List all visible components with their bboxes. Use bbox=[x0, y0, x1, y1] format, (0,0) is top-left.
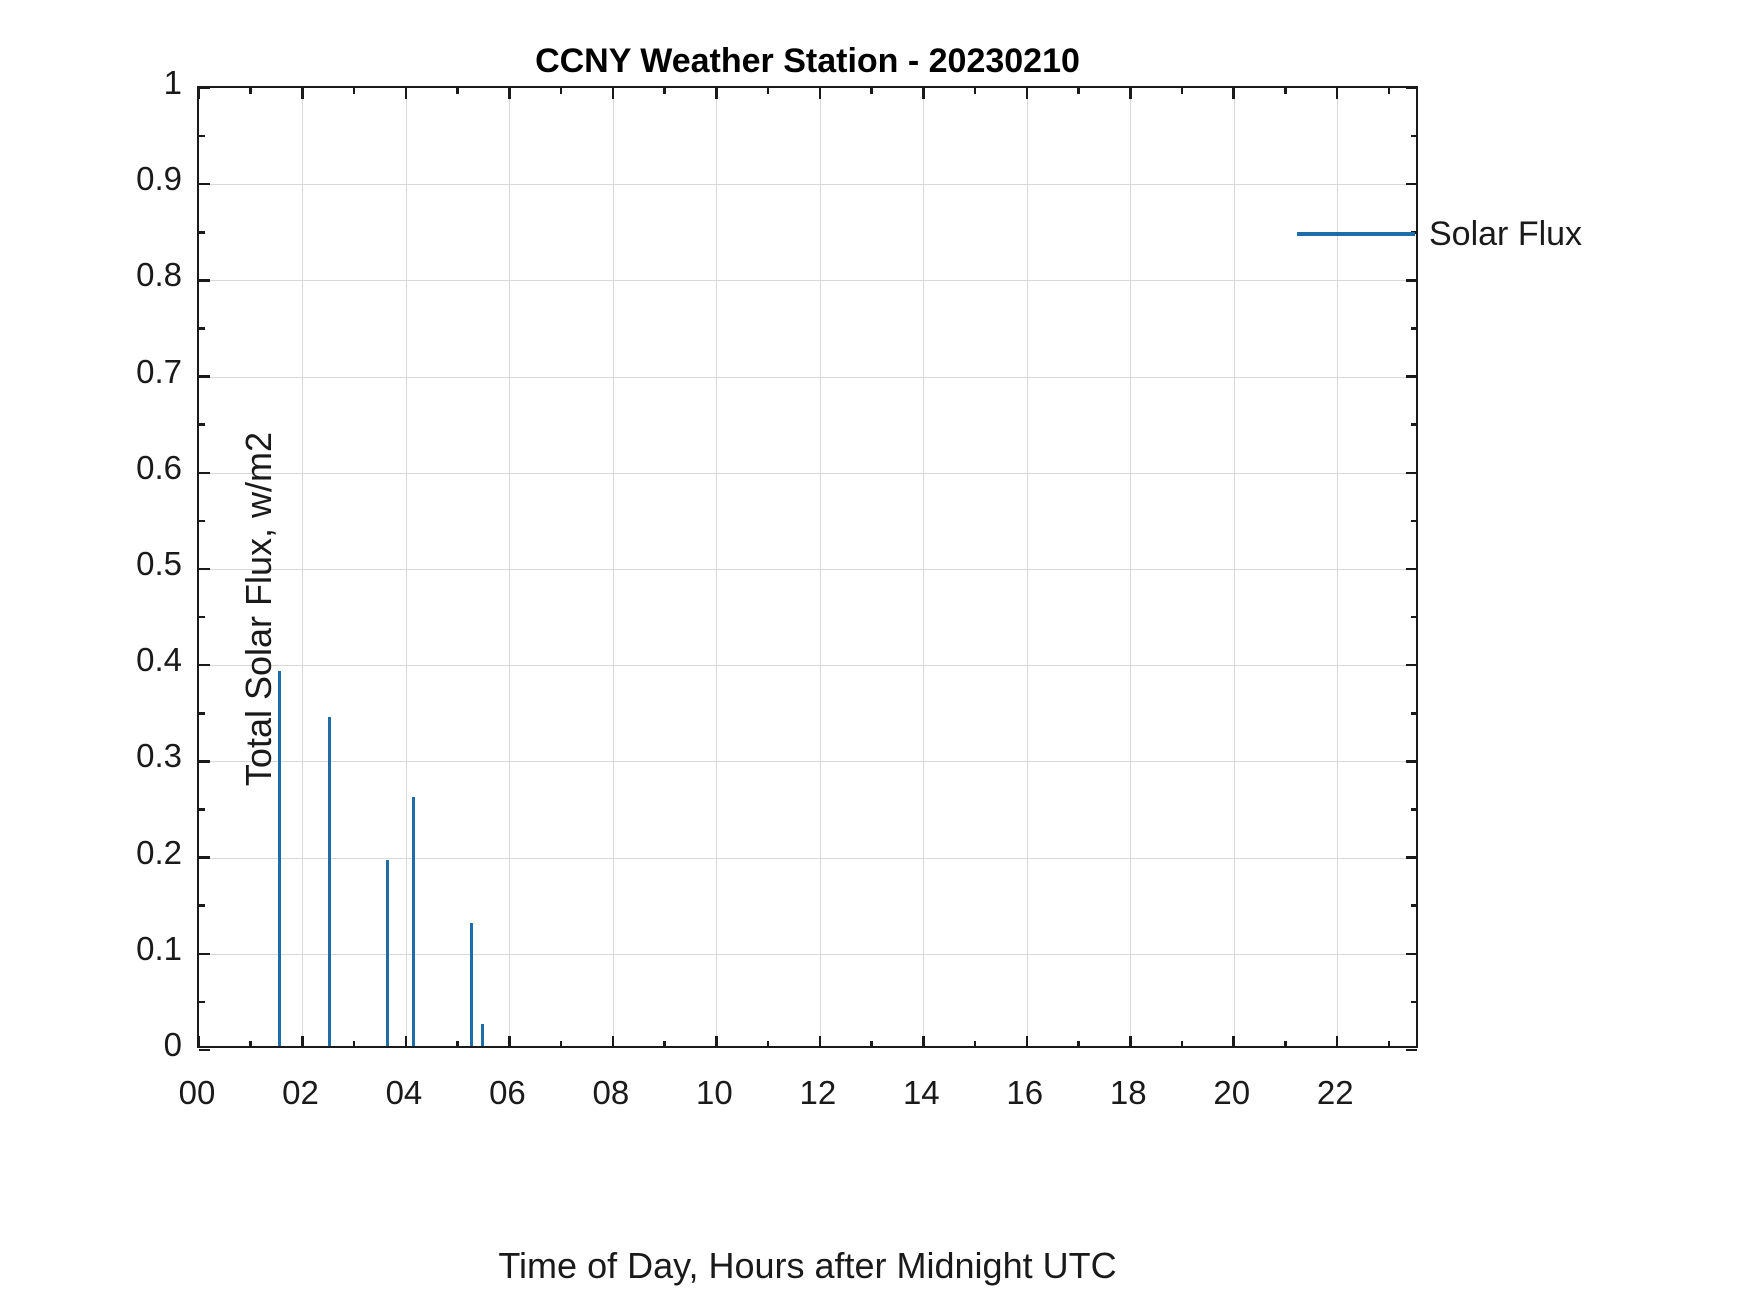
x-tick-mark-minor bbox=[870, 88, 873, 94]
x-tick-mark bbox=[1232, 88, 1235, 99]
x-tick-mark bbox=[612, 1036, 615, 1047]
y-tick-label: 0.1 bbox=[0, 930, 182, 968]
y-tick-mark-minor bbox=[199, 327, 205, 330]
y-tick-label: 0.2 bbox=[0, 834, 182, 872]
y-tick-mark-minor bbox=[199, 423, 205, 426]
y-tick-mark bbox=[199, 856, 210, 859]
x-tick-mark-minor bbox=[1181, 88, 1184, 94]
y-tick-mark-minor bbox=[199, 520, 205, 523]
x-axis-title: Time of Day, Hours after Midnight UTC bbox=[197, 1245, 1418, 1287]
y-tick-mark-minor bbox=[1411, 423, 1417, 426]
y-tick-mark-minor bbox=[1411, 904, 1417, 907]
y-tick-mark bbox=[1406, 183, 1417, 186]
x-tick-mark bbox=[715, 1036, 718, 1047]
y-tick-mark bbox=[199, 664, 210, 667]
x-tick-mark-minor bbox=[560, 1041, 563, 1047]
x-tick-mark-minor bbox=[1077, 1041, 1080, 1047]
y-tick-mark bbox=[199, 568, 210, 571]
x-tick-mark-minor bbox=[767, 1041, 770, 1047]
legend-line-solar-flux bbox=[1297, 232, 1415, 236]
x-tick-mark bbox=[1232, 1036, 1235, 1047]
y-tick-label: 0.9 bbox=[0, 160, 182, 198]
y-tick-mark bbox=[199, 1049, 210, 1052]
x-tick-mark bbox=[405, 88, 408, 99]
x-tick-mark bbox=[301, 88, 304, 99]
x-tick-mark bbox=[715, 88, 718, 99]
y-tick-mark-minor bbox=[199, 712, 205, 715]
y-tick-label: 1 bbox=[0, 64, 182, 102]
x-tick-label: 20 bbox=[1172, 1074, 1292, 1112]
series-solar-flux bbox=[199, 88, 1416, 1046]
y-tick-mark-minor bbox=[199, 808, 205, 811]
x-tick-mark-minor bbox=[249, 88, 252, 94]
x-tick-label: 10 bbox=[654, 1074, 774, 1112]
y-tick-mark-minor bbox=[1411, 712, 1417, 715]
y-tick-mark bbox=[199, 760, 210, 763]
y-tick-mark bbox=[199, 375, 210, 378]
y-tick-label: 0.3 bbox=[0, 737, 182, 775]
y-tick-mark bbox=[1406, 760, 1417, 763]
y-tick-mark bbox=[1406, 856, 1417, 859]
x-tick-mark bbox=[301, 1036, 304, 1047]
x-tick-mark-minor bbox=[353, 88, 356, 94]
data-spike bbox=[412, 797, 415, 1046]
x-tick-mark bbox=[508, 88, 511, 99]
data-spike bbox=[481, 1024, 484, 1046]
y-tick-mark-minor bbox=[199, 1001, 205, 1004]
y-tick-label: 0.8 bbox=[0, 256, 182, 294]
x-tick-mark bbox=[922, 88, 925, 99]
x-tick-mark bbox=[819, 1036, 822, 1047]
x-tick-mark-minor bbox=[974, 88, 977, 94]
x-tick-label: 18 bbox=[1068, 1074, 1188, 1112]
data-spike bbox=[470, 923, 473, 1046]
y-tick-mark bbox=[1406, 664, 1417, 667]
x-tick-mark-minor bbox=[249, 1041, 252, 1047]
x-tick-label: 08 bbox=[551, 1074, 671, 1112]
y-tick-mark bbox=[199, 953, 210, 956]
x-tick-label: 16 bbox=[965, 1074, 1085, 1112]
x-tick-label: 14 bbox=[861, 1074, 981, 1112]
data-spike bbox=[328, 717, 331, 1046]
y-tick-mark bbox=[1406, 87, 1417, 90]
x-tick-mark-minor bbox=[870, 1041, 873, 1047]
x-tick-mark bbox=[1129, 1036, 1132, 1047]
x-tick-label: 02 bbox=[240, 1074, 360, 1112]
y-tick-mark bbox=[199, 183, 210, 186]
x-tick-mark-minor bbox=[767, 88, 770, 94]
x-tick-mark bbox=[1336, 88, 1339, 99]
x-tick-mark bbox=[922, 1036, 925, 1047]
y-tick-mark-minor bbox=[199, 616, 205, 619]
x-tick-label: 06 bbox=[447, 1074, 567, 1112]
x-tick-mark-minor bbox=[1388, 88, 1391, 94]
y-tick-mark bbox=[1406, 375, 1417, 378]
y-tick-mark bbox=[1406, 953, 1417, 956]
y-tick-mark-minor bbox=[199, 904, 205, 907]
y-tick-mark bbox=[199, 472, 210, 475]
x-tick-label: 04 bbox=[344, 1074, 464, 1112]
y-tick-mark bbox=[199, 279, 210, 282]
x-tick-mark-minor bbox=[974, 1041, 977, 1047]
page-title: CCNY Weather Station - 20230210 bbox=[197, 42, 1418, 81]
x-tick-mark bbox=[819, 88, 822, 99]
x-tick-mark bbox=[1026, 88, 1029, 99]
x-tick-mark bbox=[1026, 1036, 1029, 1047]
x-tick-mark-minor bbox=[1077, 88, 1080, 94]
y-tick-mark-minor bbox=[199, 231, 205, 234]
x-tick-mark-minor bbox=[1388, 1041, 1391, 1047]
data-spike bbox=[386, 860, 389, 1046]
x-tick-mark bbox=[1129, 88, 1132, 99]
legend-label-solar-flux: Solar Flux bbox=[1429, 215, 1582, 254]
x-tick-mark bbox=[612, 88, 615, 99]
x-tick-mark bbox=[405, 1036, 408, 1047]
y-tick-mark bbox=[1406, 279, 1417, 282]
y-tick-mark-minor bbox=[1411, 1001, 1417, 1004]
x-tick-mark bbox=[198, 1036, 201, 1047]
x-tick-mark-minor bbox=[1181, 1041, 1184, 1047]
x-tick-mark bbox=[198, 88, 201, 99]
y-tick-label: 0.7 bbox=[0, 353, 182, 391]
x-tick-mark bbox=[1336, 1036, 1339, 1047]
x-tick-label: 12 bbox=[758, 1074, 878, 1112]
y-axis-title: Total Solar Flux, w/m2 bbox=[238, 259, 280, 959]
y-tick-mark-minor bbox=[1411, 616, 1417, 619]
plot-area: Total Solar Flux, w/m2 Solar Flux bbox=[197, 86, 1418, 1048]
y-tick-label: 0 bbox=[0, 1026, 182, 1064]
figure-canvas: CCNY Weather Station - 20230210 Total So… bbox=[0, 0, 1750, 1313]
legend: Solar Flux bbox=[1297, 206, 1582, 262]
y-tick-label: 0.6 bbox=[0, 449, 182, 487]
x-tick-label: 22 bbox=[1275, 1074, 1395, 1112]
y-tick-mark bbox=[1406, 1049, 1417, 1052]
y-tick-mark-minor bbox=[1411, 327, 1417, 330]
x-tick-mark-minor bbox=[1284, 1041, 1287, 1047]
y-tick-mark-minor bbox=[1411, 808, 1417, 811]
y-tick-mark bbox=[1406, 472, 1417, 475]
x-tick-mark bbox=[508, 1036, 511, 1047]
x-tick-label: 00 bbox=[137, 1074, 257, 1112]
x-tick-mark-minor bbox=[663, 1041, 666, 1047]
y-tick-mark-minor bbox=[1411, 135, 1417, 138]
x-tick-mark-minor bbox=[663, 88, 666, 94]
y-tick-mark-minor bbox=[199, 135, 205, 138]
y-tick-label: 0.4 bbox=[0, 641, 182, 679]
y-tick-mark-minor bbox=[1411, 520, 1417, 523]
x-tick-mark-minor bbox=[560, 88, 563, 94]
x-tick-mark-minor bbox=[456, 1041, 459, 1047]
y-tick-mark bbox=[1406, 568, 1417, 571]
x-tick-mark-minor bbox=[1284, 88, 1287, 94]
y-tick-label: 0.5 bbox=[0, 545, 182, 583]
x-tick-mark-minor bbox=[456, 88, 459, 94]
x-tick-mark-minor bbox=[353, 1041, 356, 1047]
